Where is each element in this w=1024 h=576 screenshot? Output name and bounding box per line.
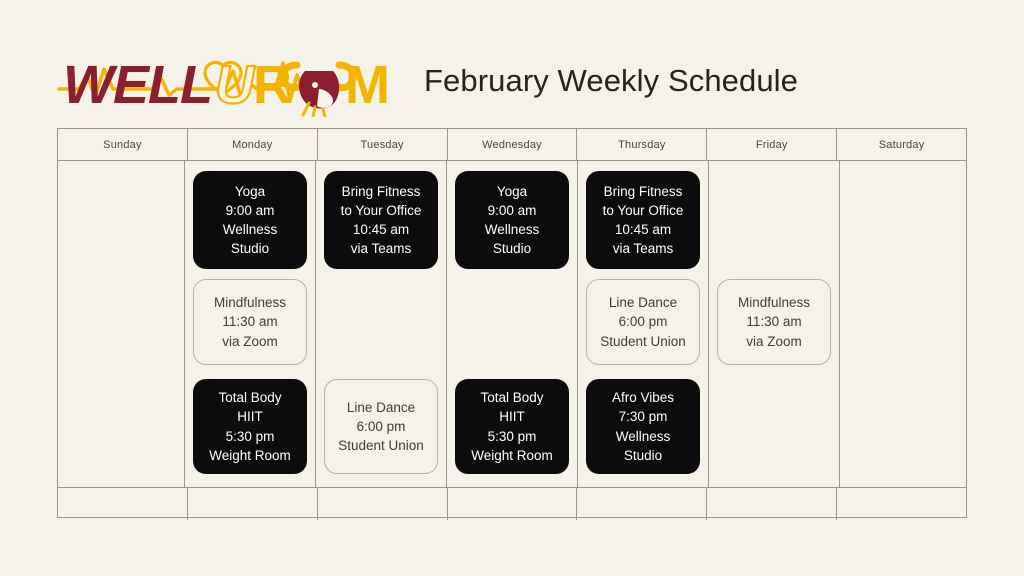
time-slot-2 [324, 279, 438, 379]
time-slot-1: Bring Fitnessto Your Office10:45 amvia T… [324, 171, 438, 279]
time-slot-3: Afro Vibes7:30 pmWellnessStudio [586, 379, 700, 487]
time-slot-1: Yoga9:00 amWellnessStudio [193, 171, 307, 279]
event-card[interactable]: Bring Fitnessto Your Office10:45 amvia T… [586, 171, 700, 269]
footer-cell-thursday [577, 488, 707, 520]
time-slot-1 [848, 171, 958, 279]
day-header-wednesday: Wednesday [448, 129, 578, 160]
day-column-wednesday: Yoga9:00 amWellnessStudioTotal BodyHIIT5… [447, 161, 578, 487]
schedule-page: WELL U R M [0, 0, 1024, 576]
event-card-line: Bring Fitness [342, 182, 421, 201]
event-card[interactable]: Bring Fitnessto Your Office10:45 amvia T… [324, 171, 438, 269]
day-header-thursday: Thursday [577, 129, 707, 160]
event-card-line: Weight Room [471, 446, 553, 465]
time-slot-3 [717, 379, 831, 487]
time-slot-1: Yoga9:00 amWellnessStudio [455, 171, 569, 279]
time-slot-2: Mindfulness11:30 amvia Zoom [717, 279, 831, 379]
day-column-monday: Yoga9:00 amWellnessStudioMindfulness11:3… [185, 161, 316, 487]
time-slot-2 [848, 279, 958, 379]
event-card-line: Wellness [223, 220, 278, 239]
event-card-line: Total Body [480, 388, 543, 407]
event-card-line: Studio [493, 239, 531, 258]
logo-well-text: WELL [63, 55, 212, 115]
event-card-line: via Teams [351, 239, 412, 258]
event-card-line: Bring Fitness [604, 182, 683, 201]
event-card[interactable]: Mindfulness11:30 amvia Zoom [193, 279, 307, 365]
event-card-line: Mindfulness [738, 293, 810, 312]
time-slot-2: Mindfulness11:30 amvia Zoom [193, 279, 307, 379]
event-card-line: Yoga [497, 182, 527, 201]
welluroam-logo: WELL U R M [57, 45, 402, 117]
event-card[interactable]: Line Dance6:00 pmStudent Union [324, 379, 438, 474]
page-header: WELL U R M [57, 42, 967, 120]
event-card-line: to Your Office [341, 201, 422, 220]
event-card-line: 5:30 pm [488, 427, 537, 446]
footer-cell-wednesday [448, 488, 578, 520]
event-card-line: Student Union [600, 332, 686, 351]
time-slot-3: Line Dance6:00 pmStudent Union [324, 379, 438, 487]
event-card-line: Line Dance [347, 398, 415, 417]
ram-mascot-icon [283, 65, 354, 117]
footer-cell-saturday [837, 488, 966, 520]
event-card[interactable]: Yoga9:00 amWellnessStudio [455, 171, 569, 269]
page-title: February Weekly Schedule [424, 63, 798, 99]
footer-cell-monday [188, 488, 318, 520]
calendar-body-row: Yoga9:00 amWellnessStudioMindfulness11:3… [58, 161, 966, 488]
calendar-footer-row [58, 488, 966, 520]
event-card[interactable]: Total BodyHIIT5:30 pmWeight Room [193, 379, 307, 474]
day-column-tuesday: Bring Fitnessto Your Office10:45 amvia T… [316, 161, 447, 487]
day-header-friday: Friday [707, 129, 837, 160]
day-header-sunday: Sunday [58, 129, 188, 160]
event-card-line: Studio [231, 239, 269, 258]
event-card-line: Weight Room [209, 446, 291, 465]
event-card-line: HIIT [499, 407, 525, 426]
time-slot-3: Total BodyHIIT5:30 pmWeight Room [193, 379, 307, 487]
event-card-line: Studio [624, 446, 662, 465]
event-card-line: via Teams [613, 239, 674, 258]
time-slot-3 [848, 379, 958, 487]
event-card-line: to Your Office [603, 201, 684, 220]
event-card-line: 9:00 am [226, 201, 275, 220]
day-header-monday: Monday [188, 129, 318, 160]
event-card[interactable]: Line Dance6:00 pmStudent Union [586, 279, 700, 365]
calendar-header-row: Sunday Monday Tuesday Wednesday Thursday… [58, 129, 966, 161]
time-slot-1 [717, 171, 831, 279]
day-column-friday: Mindfulness11:30 amvia Zoom [709, 161, 840, 487]
event-card-line: Total Body [218, 388, 281, 407]
event-card-line: 11:30 am [746, 312, 801, 331]
logo-u-text: U [215, 55, 256, 115]
event-card-line: via Zoom [746, 332, 802, 351]
event-card-line: Yoga [235, 182, 265, 201]
event-card-line: 6:00 pm [357, 417, 406, 436]
time-slot-2 [66, 279, 176, 379]
time-slot-2: Line Dance6:00 pmStudent Union [586, 279, 700, 379]
time-slot-1 [66, 171, 176, 279]
event-card-line: 11:30 am [222, 312, 277, 331]
time-slot-3 [66, 379, 176, 487]
event-card-line: Wellness [616, 427, 671, 446]
time-slot-1: Bring Fitnessto Your Office10:45 amvia T… [586, 171, 700, 279]
event-card[interactable]: Total BodyHIIT5:30 pmWeight Room [455, 379, 569, 474]
event-card-line: 5:30 pm [226, 427, 275, 446]
footer-cell-friday [707, 488, 837, 520]
event-card-line: 9:00 am [488, 201, 537, 220]
time-slot-3: Total BodyHIIT5:30 pmWeight Room [455, 379, 569, 487]
day-header-saturday: Saturday [837, 129, 966, 160]
day-column-sunday [58, 161, 185, 487]
event-card[interactable]: Mindfulness11:30 amvia Zoom [717, 279, 831, 365]
event-card-line: 6:00 pm [619, 312, 668, 331]
event-card-line: Mindfulness [214, 293, 286, 312]
event-card-line: Line Dance [609, 293, 677, 312]
event-card-line: via Zoom [222, 332, 278, 351]
time-slot-2 [455, 279, 569, 379]
footer-cell-sunday [58, 488, 188, 520]
weekly-calendar-grid: Sunday Monday Tuesday Wednesday Thursday… [57, 128, 967, 518]
day-header-tuesday: Tuesday [318, 129, 448, 160]
day-column-saturday [840, 161, 966, 487]
event-card-line: Wellness [485, 220, 540, 239]
event-card-line: 10:45 am [615, 220, 671, 239]
day-column-thursday: Bring Fitnessto Your Office10:45 amvia T… [578, 161, 709, 487]
event-card-line: HIIT [237, 407, 263, 426]
event-card-line: Afro Vibes [612, 388, 674, 407]
event-card-line: 10:45 am [353, 220, 409, 239]
event-card[interactable]: Afro Vibes7:30 pmWellnessStudio [586, 379, 700, 474]
footer-cell-tuesday [318, 488, 448, 520]
event-card-line: Student Union [338, 436, 424, 455]
event-card-line: 7:30 pm [619, 407, 668, 426]
event-card[interactable]: Yoga9:00 amWellnessStudio [193, 171, 307, 269]
